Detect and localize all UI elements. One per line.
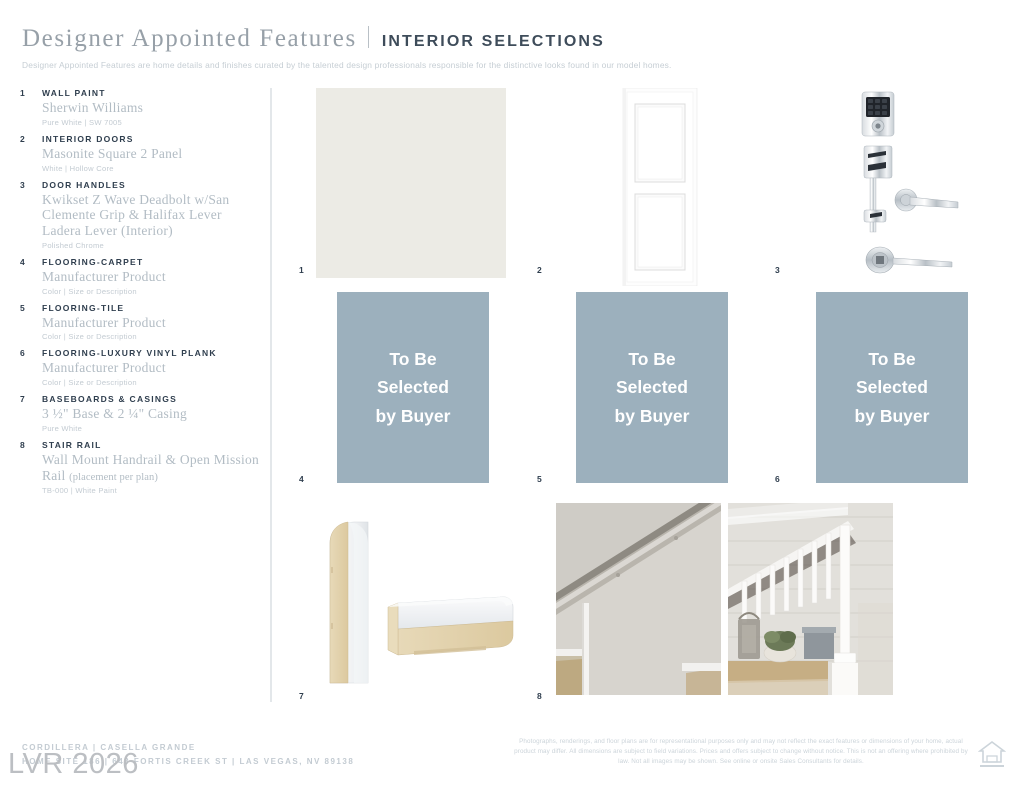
spec-body: Manufacturer Product Color | Size or Des… <box>20 315 263 342</box>
decor-plant <box>764 631 796 662</box>
spec-item-flooring-carpet: 4 FLOORING-CARPET Manufacturer Product C… <box>20 257 263 296</box>
spec-head: 6 FLOORING-LUXURY VINYL PLANK <box>20 348 263 358</box>
title-row: Designer Appointed Features INTERIOR SEL… <box>22 24 1002 53</box>
tile-interior-door <box>605 88 715 286</box>
to-be-selected-label: To Be Selected by Buyer <box>615 345 690 430</box>
spec-title: BASEBOARDS & CASINGS <box>42 394 177 404</box>
spec-product: Wall Mount Handrail & Open Mission Rail … <box>42 452 263 484</box>
tbs-line-3: by Buyer <box>855 402 930 430</box>
spec-title: FLOORING-TILE <box>42 303 124 313</box>
spec-body: 3 ½" Base & 2 ¼" Casing Pure White <box>20 406 263 433</box>
spec-item-interior-doors: 2 INTERIOR DOORS Masonite Square 2 Panel… <box>20 134 263 173</box>
spec-meta: Pure White <box>42 424 263 433</box>
spec-body: Manufacturer Product Color | Size or Des… <box>20 360 263 387</box>
to-be-selected-label: To Be Selected by Buyer <box>376 345 451 430</box>
door-illustration <box>605 88 715 286</box>
tile-flooring-lvp: To Be Selected by Buyer <box>816 292 968 483</box>
spec-meta: Color | Size or Description <box>42 287 263 296</box>
header-description: Designer Appointed Features are home det… <box>22 60 1002 70</box>
spec-meta: Polished Chrome <box>42 241 263 250</box>
spec-product: Kwikset Z Wave Deadbolt w/San Clemente G… <box>42 192 263 239</box>
spec-title: DOOR HANDLES <box>42 180 126 190</box>
spec-product: Sherwin Williams <box>42 100 263 116</box>
spec-body: Wall Mount Handrail & Open Mission Rail … <box>20 452 263 495</box>
tile-number-8: 8 <box>537 691 542 701</box>
spec-head: 4 FLOORING-CARPET <box>20 257 263 267</box>
tile-number-3: 3 <box>775 265 780 275</box>
mission-rail-illustration <box>728 503 893 695</box>
tile-baseboard-casing <box>310 503 522 693</box>
tbs-line-1: To Be <box>376 345 451 373</box>
spec-title: STAIR RAIL <box>42 440 102 450</box>
spec-body: Kwikset Z Wave Deadbolt w/San Clemente G… <box>20 192 263 250</box>
tile-flooring-carpet: To Be Selected by Buyer <box>337 292 489 483</box>
trim-profile-illustration <box>310 503 522 693</box>
spec-number: 3 <box>20 180 42 190</box>
spec-meta: Color | Size or Description <box>42 332 263 341</box>
tbs-line-3: by Buyer <box>615 402 690 430</box>
spec-number: 7 <box>20 394 42 404</box>
tile-number-1: 1 <box>299 265 304 275</box>
spec-item-flooring-lvp: 6 FLOORING-LUXURY VINYL PLANK Manufactur… <box>20 348 263 387</box>
handrail-photo <box>556 503 721 695</box>
spec-number: 2 <box>20 134 42 144</box>
decor-lantern <box>738 613 760 659</box>
spec-product: Masonite Square 2 Panel <box>42 146 263 162</box>
spec-head: 8 STAIR RAIL <box>20 440 263 450</box>
spec-product: Manufacturer Product <box>42 360 263 376</box>
spec-number: 5 <box>20 303 42 313</box>
spec-item-wall-paint: 1 WALL PAINT Sherwin Williams Pure White… <box>20 88 263 127</box>
tile-number-2: 2 <box>537 265 542 275</box>
tile-number-7: 7 <box>299 691 304 701</box>
spec-meta: TB-000 | White Paint <box>42 486 263 495</box>
tile-number-5: 5 <box>537 474 542 484</box>
mission-rail-photo <box>728 503 893 695</box>
spec-head: 7 BASEBOARDS & CASINGS <box>20 394 263 404</box>
spec-head: 5 FLOORING-TILE <box>20 303 263 313</box>
tile-number-4: 4 <box>299 474 304 484</box>
spec-head: 3 DOOR HANDLES <box>20 180 263 190</box>
tbs-line-2: Selected <box>376 373 451 401</box>
tile-flooring-tile: To Be Selected by Buyer <box>576 292 728 483</box>
spec-title: INTERIOR DOORS <box>42 134 134 144</box>
title-divider <box>368 26 369 48</box>
door-hardware-illustration <box>840 88 970 283</box>
tile-stair-handrail-photo <box>556 503 721 695</box>
spec-meta: Color | Size or Description <box>42 378 263 387</box>
spec-body: Manufacturer Product Color | Size or Des… <box>20 269 263 296</box>
tile-mission-rail-photo <box>728 503 893 695</box>
watermark: LVR 2026 <box>8 748 139 781</box>
spec-body: Masonite Square 2 Panel White | Hollow C… <box>20 146 263 173</box>
spec-head: 2 INTERIOR DOORS <box>20 134 263 144</box>
spec-head: 1 WALL PAINT <box>20 88 263 98</box>
tbs-line-2: Selected <box>615 373 690 401</box>
tbs-line-1: To Be <box>855 345 930 373</box>
vertical-divider <box>270 88 272 702</box>
spec-title: WALL PAINT <box>42 88 106 98</box>
tile-number-6: 6 <box>775 474 780 484</box>
handrail-illustration <box>556 503 721 695</box>
tbs-line-2: Selected <box>855 373 930 401</box>
tile-door-hardware <box>840 88 970 283</box>
spec-product: 3 ½" Base & 2 ¼" Casing <box>42 406 263 422</box>
equal-housing-opportunity-icon <box>978 739 1006 769</box>
tbs-line-3: by Buyer <box>376 402 451 430</box>
spec-number: 6 <box>20 348 42 358</box>
spec-meta: White | Hollow Core <box>42 164 263 173</box>
spec-number: 1 <box>20 88 42 98</box>
spec-number: 4 <box>20 257 42 267</box>
spec-item-door-handles: 3 DOOR HANDLES Kwikset Z Wave Deadbolt w… <box>20 180 263 250</box>
decor-box <box>802 627 836 659</box>
paint-swatch <box>316 88 506 278</box>
spec-meta: Pure White | SW 7005 <box>42 118 263 127</box>
tile-wall-paint <box>316 88 506 278</box>
spec-item-stair-rail: 8 STAIR RAIL Wall Mount Handrail & Open … <box>20 440 263 495</box>
spec-product-note: (placement per plan) <box>69 472 158 483</box>
spec-title: FLOORING-CARPET <box>42 257 143 267</box>
tbs-line-1: To Be <box>615 345 690 373</box>
page-header: Designer Appointed Features INTERIOR SEL… <box>22 24 1002 70</box>
spec-item-flooring-tile: 5 FLOORING-TILE Manufacturer Product Col… <box>20 303 263 342</box>
spec-item-baseboards-casings: 7 BASEBOARDS & CASINGS 3 ½" Base & 2 ¼" … <box>20 394 263 433</box>
spec-body: Sherwin Williams Pure White | SW 7005 <box>20 100 263 127</box>
spec-number: 8 <box>20 440 42 450</box>
to-be-selected-label: To Be Selected by Buyer <box>855 345 930 430</box>
footer-disclaimer: Photographs, renderings, and floor plans… <box>508 737 974 766</box>
specification-list: 1 WALL PAINT Sherwin Williams Pure White… <box>20 88 263 502</box>
spec-product: Manufacturer Product <box>42 269 263 285</box>
spec-title: FLOORING-LUXURY VINYL PLANK <box>42 348 217 358</box>
page-subtitle: INTERIOR SELECTIONS <box>382 33 605 51</box>
page-title: Designer Appointed Features <box>22 25 357 53</box>
spec-product: Manufacturer Product <box>42 315 263 331</box>
